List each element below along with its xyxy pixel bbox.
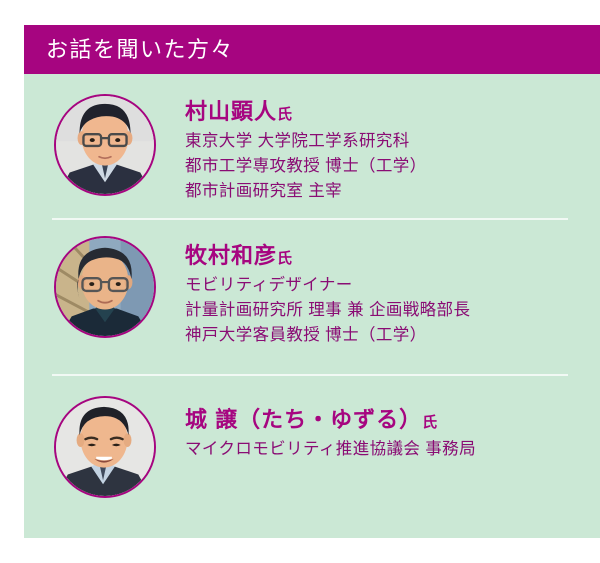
- list-item: 村山顕人氏 東京大学 大学院工学系研究科 都市工学専攻教授 博士（工学） 都市計…: [24, 74, 600, 218]
- interviewees-list: 村山顕人氏 東京大学 大学院工学系研究科 都市工学専攻教授 博士（工学） 都市計…: [24, 74, 600, 538]
- person-details: 牧村和彦氏 モビリティデザイナー 計量計画研究所 理事 兼 企画戦略部長 神戸大…: [185, 234, 470, 348]
- person-honorific: 氏: [277, 106, 292, 123]
- page-title: お話を聞いた方々: [46, 39, 234, 61]
- person-affiliation: 都市計画研究室 主宰: [185, 179, 427, 204]
- interviewees-card: お話を聞いた方々: [24, 25, 600, 538]
- person-affiliation: 計量計画研究所 理事 兼 企画戦略部長: [185, 298, 470, 323]
- person-name-text: 村山顕人: [185, 99, 277, 124]
- person-affiliation: 神戸大学客員教授 博士（工学）: [185, 323, 470, 348]
- person-affiliation: モビリティデザイナー: [185, 273, 470, 298]
- card-header: お話を聞いた方々: [24, 25, 600, 74]
- list-item: 城 譲（たち・ゆずる）氏 マイクロモビリティ推進協議会 事務局: [24, 376, 600, 496]
- person-affiliation: マイクロモビリティ推進協議会 事務局: [185, 437, 476, 462]
- person-name: 村山顕人氏: [185, 98, 427, 126]
- person-details: 城 譲（たち・ゆずる）氏 マイクロモビリティ推進協議会 事務局: [185, 394, 476, 462]
- portrait-icon: [56, 96, 154, 194]
- portrait-icon: [56, 398, 154, 496]
- person-details: 村山顕人氏 東京大学 大学院工学系研究科 都市工学専攻教授 博士（工学） 都市計…: [185, 92, 427, 204]
- person-affiliation: 東京大学 大学院工学系研究科: [185, 129, 427, 154]
- portrait-icon: [56, 238, 154, 336]
- person-name-text: 城 譲（たち・ゆずる）: [185, 407, 422, 432]
- person-affiliation: 都市工学専攻教授 博士（工学）: [185, 154, 427, 179]
- avatar: [54, 396, 156, 498]
- person-name: 城 譲（たち・ゆずる）氏: [185, 406, 476, 434]
- avatar: [54, 94, 156, 196]
- person-name: 牧村和彦氏: [185, 242, 470, 270]
- avatar: [54, 236, 156, 338]
- person-name-text: 牧村和彦: [185, 243, 277, 268]
- person-honorific: 氏: [422, 414, 437, 431]
- person-honorific: 氏: [277, 250, 292, 267]
- list-item: 牧村和彦氏 モビリティデザイナー 計量計画研究所 理事 兼 企画戦略部長 神戸大…: [24, 220, 600, 374]
